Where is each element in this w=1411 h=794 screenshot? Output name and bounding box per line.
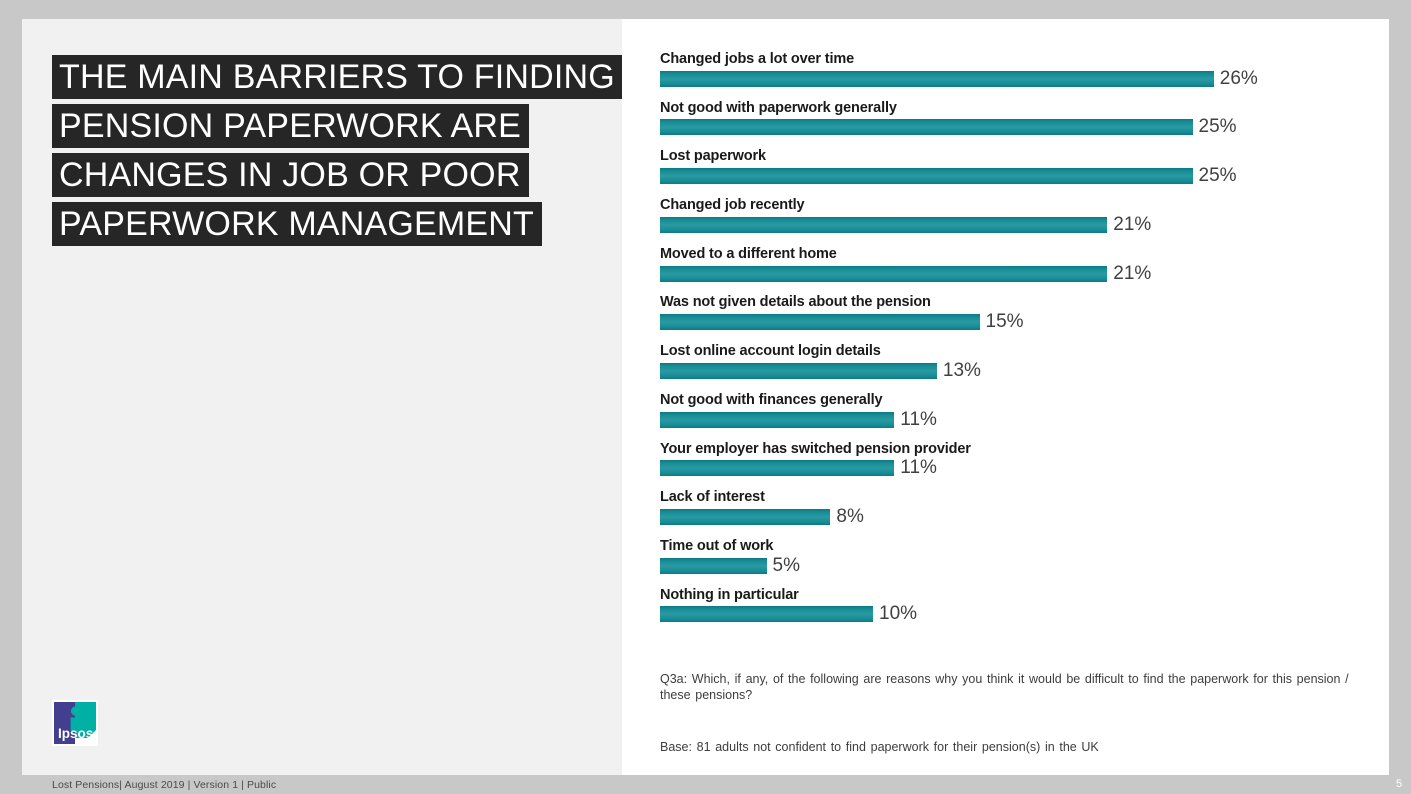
bar-row: Lost online account login details13%	[660, 344, 1380, 393]
bar-row: Not good with paperwork generally25%	[660, 101, 1380, 150]
bar-value-label: 13%	[943, 363, 981, 379]
bar-category-label: Not good with finances generally	[660, 393, 882, 408]
bar-category-label: Your employer has switched pension provi…	[660, 442, 971, 457]
bar-fill	[660, 168, 1193, 184]
bar-category-label: Lack of interest	[660, 490, 765, 505]
bar-fill	[660, 412, 894, 428]
bar-fill	[660, 314, 980, 330]
bar-row: Changed jobs a lot over time26%	[660, 52, 1380, 101]
bar-value-label: 8%	[836, 509, 863, 525]
bar-row: Time out of work5%	[660, 539, 1380, 588]
footer-text: Lost Pensions| August 2019 | Version 1 |…	[52, 779, 276, 791]
bar-value-label: 21%	[1113, 217, 1151, 233]
bar-row: Not good with finances generally11%	[660, 393, 1380, 442]
bar-fill	[660, 509, 830, 525]
bar-category-label: Lost online account login details	[660, 344, 881, 359]
bar-track: 11%	[660, 411, 937, 427]
bar-value-label: 5%	[773, 558, 800, 574]
bar-value-label: 25%	[1199, 168, 1237, 184]
bar-fill	[660, 217, 1107, 233]
page-number: 5	[1396, 778, 1402, 790]
bar-track: 8%	[660, 508, 864, 524]
bar-value-label: 26%	[1220, 71, 1258, 87]
bar-chart: Changed jobs a lot over time26%Not good …	[622, 19, 1389, 775]
title-line-1: THE MAIN BARRIERS TO FINDING	[52, 55, 623, 99]
bar-value-label: 10%	[879, 606, 917, 622]
bar-row: Your employer has switched pension provi…	[660, 442, 1380, 491]
bar-row: Changed job recently21%	[660, 198, 1380, 247]
ipsos-wordmark: Ipsos	[58, 726, 93, 741]
bar-row: Lost paperwork25%	[660, 149, 1380, 198]
bar-track: 25%	[660, 167, 1237, 183]
bar-fill	[660, 119, 1193, 135]
bar-fill	[660, 363, 937, 379]
bar-category-label: Changed jobs a lot over time	[660, 52, 854, 67]
bar-value-label: 15%	[986, 314, 1024, 330]
ipsos-logo: Ipsos	[52, 700, 98, 746]
bar-track: 11%	[660, 460, 937, 476]
bar-track: 5%	[660, 557, 800, 573]
bar-track: 25%	[660, 119, 1237, 135]
bar-track: 26%	[660, 70, 1258, 86]
bar-track: 13%	[660, 362, 981, 378]
bar-track: 15%	[660, 313, 1024, 329]
bar-value-label: 11%	[900, 460, 937, 476]
bar-fill	[660, 266, 1107, 282]
bar-track: 21%	[660, 216, 1151, 232]
bar-row: Moved to a different home21%	[660, 247, 1380, 296]
bar-category-label: Moved to a different home	[660, 247, 837, 262]
bar-value-label: 25%	[1199, 119, 1237, 135]
base-note: Base: 81 adults not confident to find pa…	[660, 739, 1380, 755]
title-line-3: CHANGES IN JOB OR POOR	[52, 153, 529, 197]
bar-category-label: Changed job recently	[660, 198, 804, 213]
page-title: THE MAIN BARRIERS TO FINDING PENSION PAP…	[52, 55, 612, 251]
bar-chart-rows: Changed jobs a lot over time26%Not good …	[660, 52, 1380, 636]
bar-fill	[660, 71, 1214, 87]
bar-row: Was not given details about the pension1…	[660, 295, 1380, 344]
question-note: Q3a: Which, if any, of the following are…	[660, 671, 1372, 703]
bar-category-label: Not good with paperwork generally	[660, 101, 897, 116]
bar-fill	[660, 460, 894, 476]
bar-category-label: Nothing in particular	[660, 588, 799, 603]
bar-row: Lack of interest8%	[660, 490, 1380, 539]
title-line-4: PAPERWORK MANAGEMENT	[52, 202, 542, 246]
bar-fill	[660, 606, 873, 622]
title-line-2: PENSION PAPERWORK ARE	[52, 104, 529, 148]
bar-value-label: 21%	[1113, 266, 1151, 282]
bar-fill	[660, 558, 767, 574]
bar-track: 10%	[660, 606, 917, 622]
bar-category-label: Time out of work	[660, 539, 773, 554]
bar-row: Nothing in particular10%	[660, 588, 1380, 637]
bar-track: 21%	[660, 265, 1151, 281]
bar-value-label: 11%	[900, 412, 937, 428]
bar-category-label: Lost paperwork	[660, 149, 766, 164]
title-panel: THE MAIN BARRIERS TO FINDING PENSION PAP…	[22, 19, 622, 775]
chart-footnotes: Q3a: Which, if any, of the following are…	[660, 671, 1380, 755]
bar-category-label: Was not given details about the pension	[660, 295, 931, 310]
slide-canvas: THE MAIN BARRIERS TO FINDING PENSION PAP…	[22, 19, 1389, 775]
